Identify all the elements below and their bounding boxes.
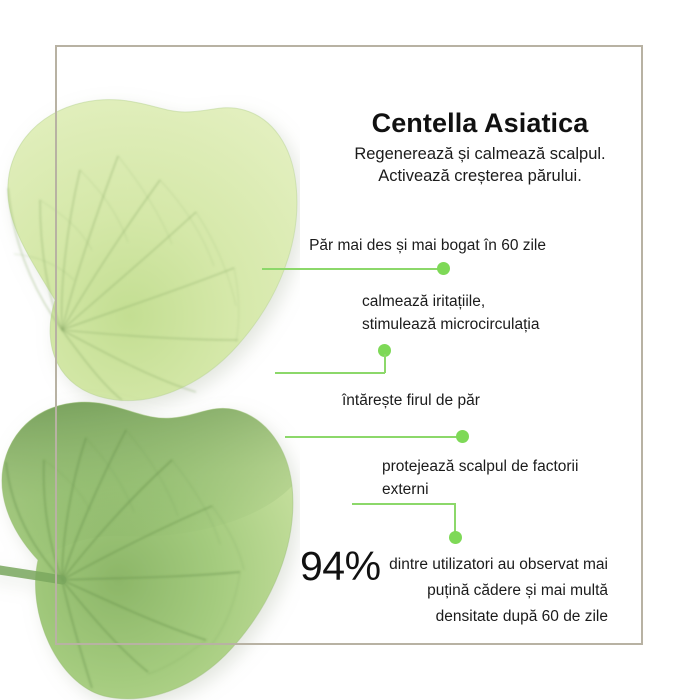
connector-dot <box>449 531 462 544</box>
connector-line <box>285 436 460 438</box>
connector-line-horizontal <box>275 372 385 374</box>
benefit-line-1: protejează scalpul de factorii <box>382 455 602 478</box>
benefit-label-soothing: calmează iritațiile, stimulează microcir… <box>362 290 622 336</box>
statistic-line-3: densitate după 60 de zile <box>378 604 608 630</box>
subtitle-line-1: Regenerează și calmează scalpul. <box>300 143 660 165</box>
page-subtitle: Regenerează și calmează scalpul. Activea… <box>300 143 660 187</box>
statistic-line-2: puțină cădere și mai multă <box>378 578 608 604</box>
benefit-line-2: stimulează microcirculația <box>362 313 622 336</box>
benefit-line-2: externi <box>382 478 602 501</box>
statistic-description: dintre utilizatori au observat mai puțin… <box>378 552 608 630</box>
connector-line-vertical <box>384 354 386 373</box>
statistic-line-1: dintre utilizatori au observat mai <box>378 552 608 578</box>
subtitle-line-2: Activează creșterea părului. <box>300 165 660 187</box>
benefit-label-hair-density: Păr mai des și mai bogat în 60 zile <box>246 234 546 257</box>
connector-line-horizontal <box>352 503 455 505</box>
benefit-label-strengthening: întărește firul de păr <box>342 389 602 412</box>
connector-dot <box>437 262 450 275</box>
infographic-card: Centella Asiatica Regenerează și calmeaz… <box>0 0 700 700</box>
benefit-line-1: calmează iritațiile, <box>362 290 622 313</box>
statistic-value: 94% <box>300 544 381 588</box>
page-title: Centella Asiatica <box>300 108 660 139</box>
connector-line <box>262 268 442 270</box>
benefit-label-protection: protejează scalpul de factorii externi <box>382 455 602 501</box>
connector-dot <box>456 430 469 443</box>
